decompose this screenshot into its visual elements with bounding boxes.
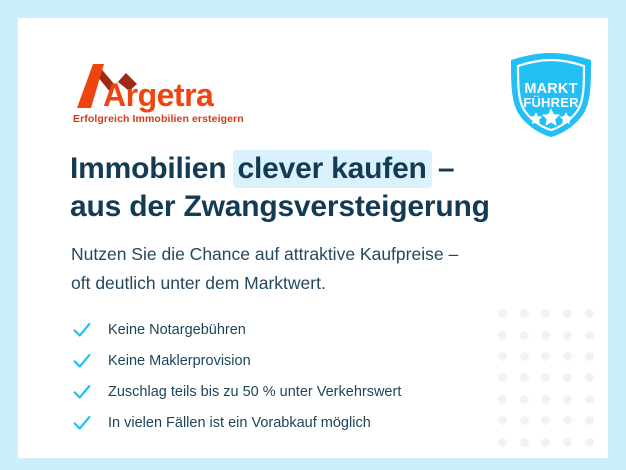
headline-part1: Immobilien	[70, 152, 235, 185]
dot	[563, 395, 572, 404]
dot	[585, 309, 594, 318]
dot	[563, 352, 572, 361]
list-item: In vielen Fällen ist ein Vorabkauf mögli…	[71, 407, 541, 438]
logo-tagline-text: Erfolgreich Immobilien ersteigern	[73, 113, 244, 125]
dot	[541, 416, 550, 425]
dot	[585, 352, 594, 361]
subheading: Nutzen Sie die Chance auf attraktive Kau…	[71, 240, 571, 298]
list-item-label: In vielen Fällen ist ein Vorabkauf mögli…	[108, 414, 371, 432]
dot	[498, 438, 507, 447]
subheading-line1: Nutzen Sie die Chance auf attraktive Kau…	[71, 244, 458, 264]
check-icon	[71, 412, 93, 434]
dot	[585, 373, 594, 382]
subheading-line2: oft deutlich unter dem Marktwert.	[71, 269, 571, 298]
headline-highlight: clever kaufen	[233, 150, 432, 188]
list-item: Keine Maklerprovision	[71, 345, 541, 376]
dot	[563, 416, 572, 425]
headline-part2: –	[430, 152, 455, 185]
dot	[541, 395, 550, 404]
badge-line2: FÜHRER	[523, 95, 579, 110]
dot	[541, 373, 550, 382]
argetra-logo-svg: Argetra Erfolgreich Immobilien ersteiger…	[71, 60, 271, 128]
markt-fuehrer-badge: MARKT FÜHRER	[505, 51, 597, 139]
dot	[585, 416, 594, 425]
shield-badge-icon: MARKT FÜHRER	[505, 51, 597, 139]
dot	[563, 438, 572, 447]
check-icon	[71, 319, 93, 341]
dot	[541, 309, 550, 318]
dot	[585, 331, 594, 340]
list-item: Zuschlag teils bis zu 50 % unter Verkehr…	[71, 376, 541, 407]
check-icon	[71, 381, 93, 403]
headline-line2: aus der Zwangsversteigerung	[70, 188, 570, 226]
dot	[585, 438, 594, 447]
list-item-label: Keine Maklerprovision	[108, 352, 251, 370]
dot	[585, 395, 594, 404]
argetra-logo[interactable]: Argetra Erfolgreich Immobilien ersteiger…	[71, 60, 271, 128]
list-item-label: Zuschlag teils bis zu 50 % unter Verkehr…	[108, 383, 401, 401]
dot	[563, 309, 572, 318]
check-icon	[71, 350, 93, 372]
dot	[520, 438, 529, 447]
list-item: Keine Notargebühren	[71, 314, 541, 345]
svg-text:Argetra: Argetra	[103, 77, 214, 113]
benefits-checklist: Keine Notargebühren Keine Maklerprovisio…	[71, 314, 541, 438]
dot	[541, 352, 550, 361]
dot	[563, 331, 572, 340]
dot	[541, 438, 550, 447]
dot	[541, 331, 550, 340]
promo-card: Argetra Erfolgreich Immobilien ersteiger…	[18, 18, 608, 458]
list-item-label: Keine Notargebühren	[108, 321, 246, 339]
dot	[563, 373, 572, 382]
page-title: Immobilien clever kaufen – aus der Zwang…	[70, 150, 570, 226]
